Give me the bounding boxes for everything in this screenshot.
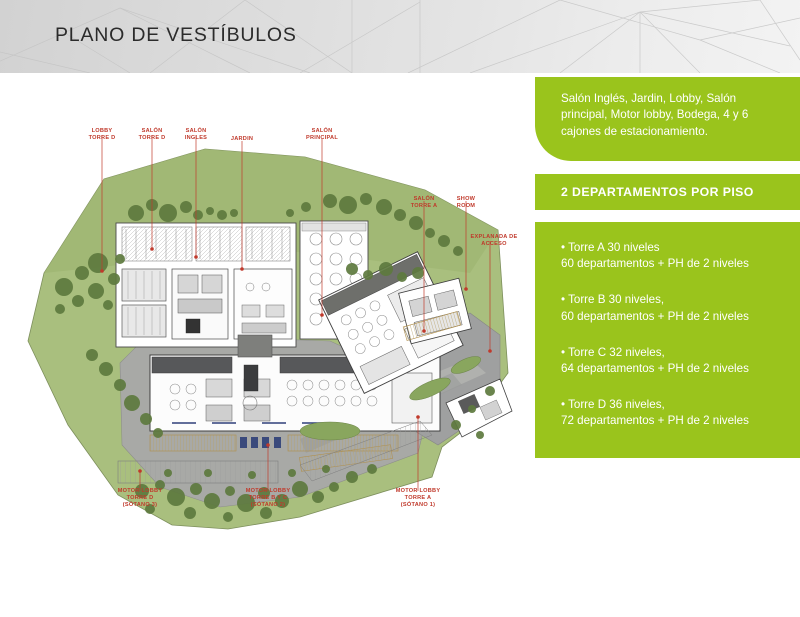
callout-line-1: SALÓN bbox=[139, 128, 166, 135]
callout-lobby-torre-d: LOBBY TORRE D bbox=[89, 128, 116, 142]
callout-motor-lobby-torre-b-c: MOTOR LOBBY TORRE B Y C (SÓTANO 2) bbox=[246, 488, 291, 510]
callout-line-3: (SÓTANO 3) bbox=[118, 502, 163, 509]
callout-motor-lobby-torre-a: MOTOR LOBBY TORRE A (SÓTANO 1) bbox=[396, 488, 441, 510]
header-band: PLANO DE VESTÍBULOS bbox=[0, 0, 800, 73]
tower-line-2: 72 departamentos + PH de 2 niveles bbox=[561, 413, 782, 429]
tower-line-1: • Torre D 36 niveles, bbox=[561, 397, 782, 413]
callout-line-3: (SÓTANO 1) bbox=[396, 502, 441, 509]
tower-item: • Torre D 36 niveles, 72 departamentos +… bbox=[561, 397, 782, 429]
departments-heading-label: 2 DEPARTAMENTOS POR PISO bbox=[561, 185, 754, 199]
callout-line-1: SHOW bbox=[457, 196, 475, 203]
tower-item: • Torre B 30 niveles, 60 departamentos +… bbox=[561, 292, 782, 324]
callout-line-1: MOTOR LOBBY bbox=[246, 488, 291, 495]
callout-line-2: TORRE A bbox=[411, 203, 438, 210]
callout-salon-torre-a: SALÓN TORRE A bbox=[411, 196, 438, 210]
callout-line-2: TORRE D bbox=[89, 135, 116, 142]
callout-line-2: INGLES bbox=[185, 135, 207, 142]
callout-line-1: SALÓN bbox=[185, 128, 207, 135]
tower-line-1: • Torre A 30 niveles bbox=[561, 240, 782, 256]
callout-jardin: JARDIN bbox=[231, 136, 253, 143]
callout-salon-torre-d: SALÓN TORRE D bbox=[139, 128, 166, 142]
tower-item: • Torre C 32 niveles, 64 departamentos +… bbox=[561, 345, 782, 377]
page-title: PLANO DE VESTÍBULOS bbox=[55, 24, 297, 47]
callout-line-2: PRINCIPAL bbox=[306, 135, 338, 142]
callout-line-1: SALÓN bbox=[411, 196, 438, 203]
building-north-wing bbox=[116, 223, 296, 347]
callout-line-3: (SÓTANO 2) bbox=[246, 502, 291, 509]
callout-line-1: MOTOR LOBBY bbox=[396, 488, 441, 495]
tower-item: • Torre A 30 niveles 60 departamentos + … bbox=[561, 240, 782, 272]
callout-salon-ingles: SALÓN INGLES bbox=[185, 128, 207, 142]
callout-line-2: ROOM bbox=[457, 203, 475, 210]
site-plan-drawing bbox=[0, 73, 540, 617]
tower-line-1: • Torre C 32 niveles, bbox=[561, 345, 782, 361]
departments-heading-panel: 2 DEPARTAMENTOS POR PISO bbox=[535, 174, 800, 210]
callout-line-2: ACCESO bbox=[471, 241, 518, 248]
tower-line-2: 60 departamentos + PH de 2 niveles bbox=[561, 256, 782, 272]
tower-line-2: 64 departamentos + PH de 2 niveles bbox=[561, 361, 782, 377]
callout-explanada-de-acceso: EXPLANADA DE ACCESO bbox=[471, 234, 518, 248]
towers-panel: • Torre A 30 niveles 60 departamentos + … bbox=[535, 222, 800, 458]
tower-line-1: • Torre B 30 niveles, bbox=[561, 292, 782, 308]
callout-salon-principal: SALÓN PRINCIPAL bbox=[306, 128, 338, 142]
callout-line-1: MOTOR LOBBY bbox=[118, 488, 163, 495]
callout-line-1: EXPLANADA DE bbox=[471, 234, 518, 241]
callout-motor-lobby-torre-d: MOTOR LOBBY TORRE D (SÓTANO 3) bbox=[118, 488, 163, 510]
tower-line-2: 60 departamentos + PH de 2 niveles bbox=[561, 309, 782, 325]
features-panel: Salón Inglés, Jardin, Lobby, Salón princ… bbox=[535, 77, 800, 161]
features-text: Salón Inglés, Jardin, Lobby, Salón princ… bbox=[561, 91, 778, 140]
slide-root: PLANO DE VESTÍBULOS Salón Inglés, Jardin… bbox=[0, 0, 800, 617]
callout-line-1: JARDIN bbox=[231, 136, 253, 143]
callout-show-room: SHOW ROOM bbox=[457, 196, 475, 210]
callout-line-1: LOBBY bbox=[89, 128, 116, 135]
callout-line-1: SALÓN bbox=[306, 128, 338, 135]
callout-line-2: TORRE D bbox=[139, 135, 166, 142]
